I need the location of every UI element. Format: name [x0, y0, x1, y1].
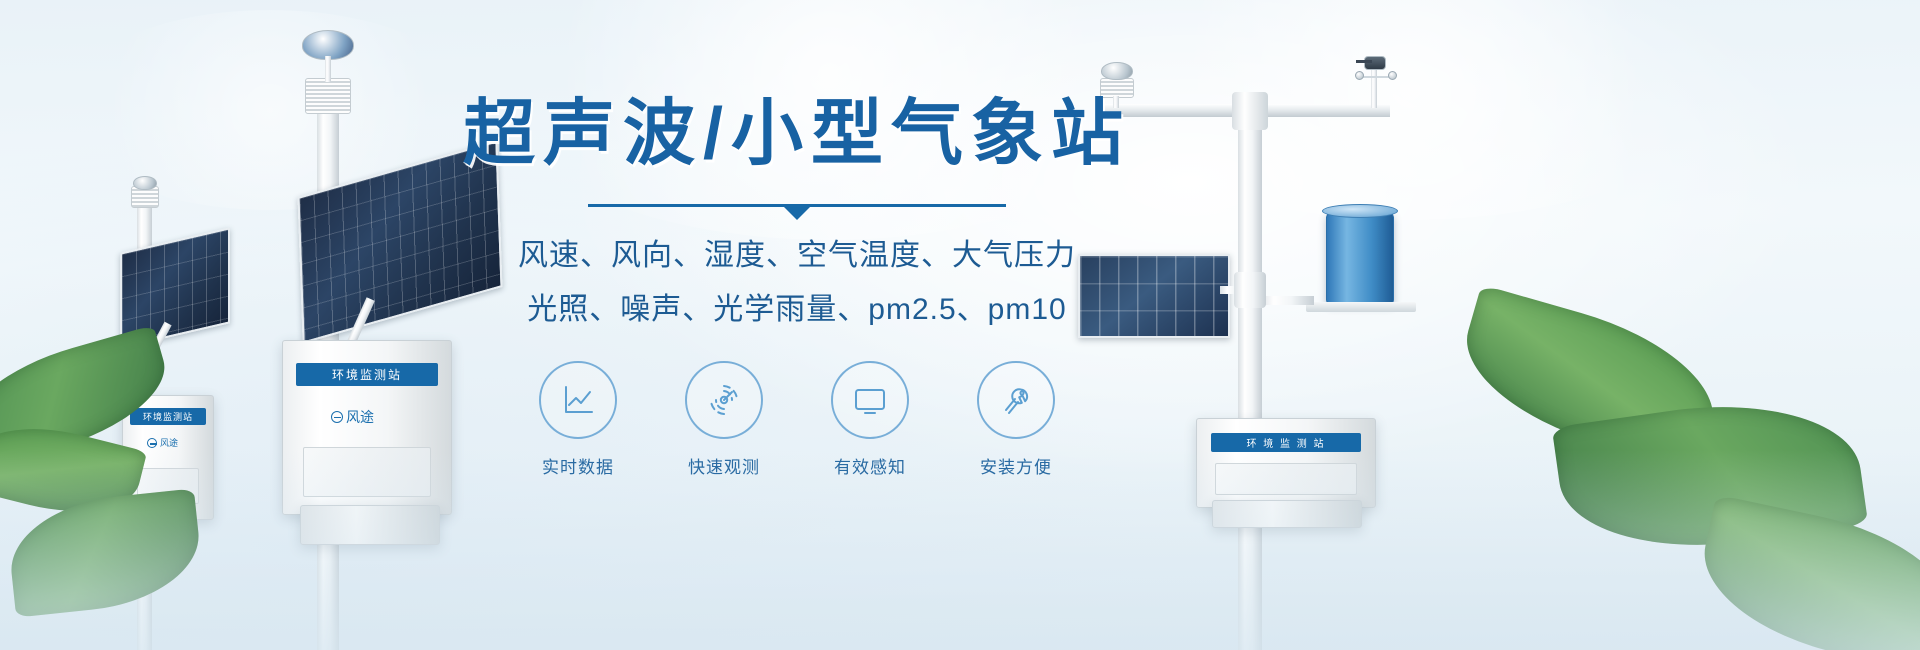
feature-item-easy-install[interactable]: 安装方便 — [974, 361, 1058, 478]
brand-mark-icon — [331, 411, 343, 423]
panel-clamp — [1234, 272, 1266, 308]
feature-item-realtime-data[interactable]: 实时数据 — [536, 361, 620, 478]
arm-clamp — [1232, 92, 1268, 130]
rain-gauge — [1326, 212, 1394, 304]
dome-stem — [325, 56, 331, 82]
line-chart-icon — [558, 380, 598, 420]
page-title: 超声波/小型气象站 — [447, 96, 1147, 174]
brand-logo: 风途 — [331, 407, 374, 427]
sensor-head — [305, 78, 351, 114]
radiation-shield-dome — [133, 176, 157, 190]
rain-gauge-funnel — [1322, 204, 1398, 218]
banner-content: 超声波/小型气象站 风速、风向、湿度、空气温度、大气压力 光照、噪声、光学雨量、… — [447, 96, 1147, 478]
wind-vane — [1364, 56, 1386, 70]
subtitle-line-1: 风速、风向、湿度、空气温度、大气压力 — [447, 232, 1147, 281]
subtitle-line-2: 光照、噪声、光学雨量、pm2.5、pm10 — [447, 286, 1147, 335]
bottom-haze — [0, 450, 1920, 650]
feature-icon-ring — [539, 361, 617, 439]
brand-logo: 风途 — [147, 436, 178, 449]
feature-item-effective-sensing[interactable]: 有效感知 — [828, 361, 912, 478]
brand-label: 风途 — [160, 436, 178, 449]
radar-sensing-icon — [704, 380, 744, 420]
gauge-bracket — [1306, 302, 1416, 312]
divider-triangle-icon — [784, 207, 810, 220]
feature-label: 快速观测 — [682, 453, 766, 478]
feature-label: 有效感知 — [828, 453, 912, 478]
monitor-icon — [850, 380, 890, 420]
anemometer-cup — [1388, 71, 1397, 80]
vane-fin — [1356, 60, 1372, 63]
bracket-arm — [1258, 296, 1314, 305]
feature-list: 实时数据 快速观测 — [447, 361, 1147, 478]
sensor-dome — [1101, 62, 1133, 80]
anemometer-cup — [1355, 71, 1364, 80]
feature-icon-ring — [685, 361, 763, 439]
title-divider — [588, 200, 1006, 214]
feature-label: 实时数据 — [536, 453, 620, 478]
feature-label: 安装方便 — [974, 453, 1058, 478]
wrench-icon — [996, 380, 1036, 420]
banner-stage: 环境监测站 风途 环境监测站 风途 — [0, 0, 1920, 650]
cabinet-label: 环境监测站 — [130, 408, 206, 425]
feature-icon-ring — [831, 361, 909, 439]
feature-icon-ring — [977, 361, 1055, 439]
cup-anemometer — [1356, 70, 1396, 82]
feature-item-fast-observation[interactable]: 快速观测 — [682, 361, 766, 478]
cabinet-label: 环境监测站 — [296, 363, 437, 386]
brand-label: 风途 — [346, 407, 374, 427]
brand-mark-icon — [147, 438, 157, 448]
